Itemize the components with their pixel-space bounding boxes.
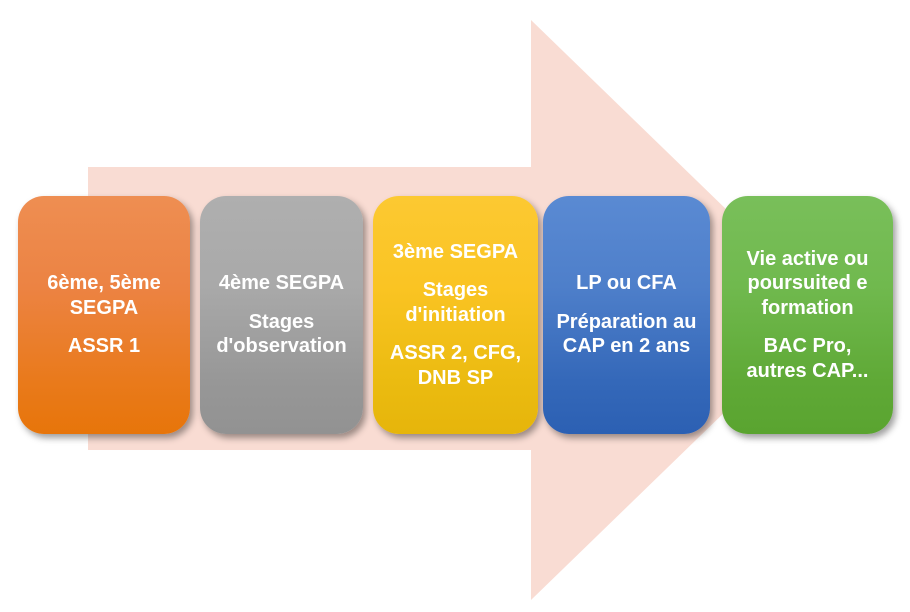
stage-line: LP ou CFA bbox=[553, 271, 700, 295]
stage-box-lp-cfa[interactable]: LP ou CFA Préparation au CAP en 2 ans bbox=[543, 196, 710, 434]
stage-box-6eme-5eme[interactable]: 6ème, 5ème SEGPA ASSR 1 bbox=[18, 196, 190, 434]
stage-line: BAC Pro, autres CAP... bbox=[732, 334, 883, 383]
stage-line: 4ème SEGPA bbox=[210, 271, 353, 295]
stage-line: 6ème, 5ème SEGPA bbox=[28, 271, 180, 320]
stage-line: Stages d'observation bbox=[210, 310, 353, 359]
stage-line: Vie active ou poursuited e formation bbox=[732, 247, 883, 320]
diagram-canvas: 6ème, 5ème SEGPA ASSR 1 4ème SEGPA Stage… bbox=[0, 0, 910, 612]
stage-line: Préparation au CAP en 2 ans bbox=[553, 310, 700, 359]
stage-line: ASSR 2, CFG, DNB SP bbox=[383, 341, 528, 390]
stage-line: 3ème SEGPA bbox=[383, 240, 528, 264]
stage-line: Stages d'initiation bbox=[383, 278, 528, 327]
stage-box-3eme[interactable]: 3ème SEGPA Stages d'initiation ASSR 2, C… bbox=[373, 196, 538, 434]
stage-line: ASSR 1 bbox=[28, 334, 180, 358]
stage-box-4eme[interactable]: 4ème SEGPA Stages d'observation bbox=[200, 196, 363, 434]
stage-box-vie-active[interactable]: Vie active ou poursuited e formation BAC… bbox=[722, 196, 893, 434]
